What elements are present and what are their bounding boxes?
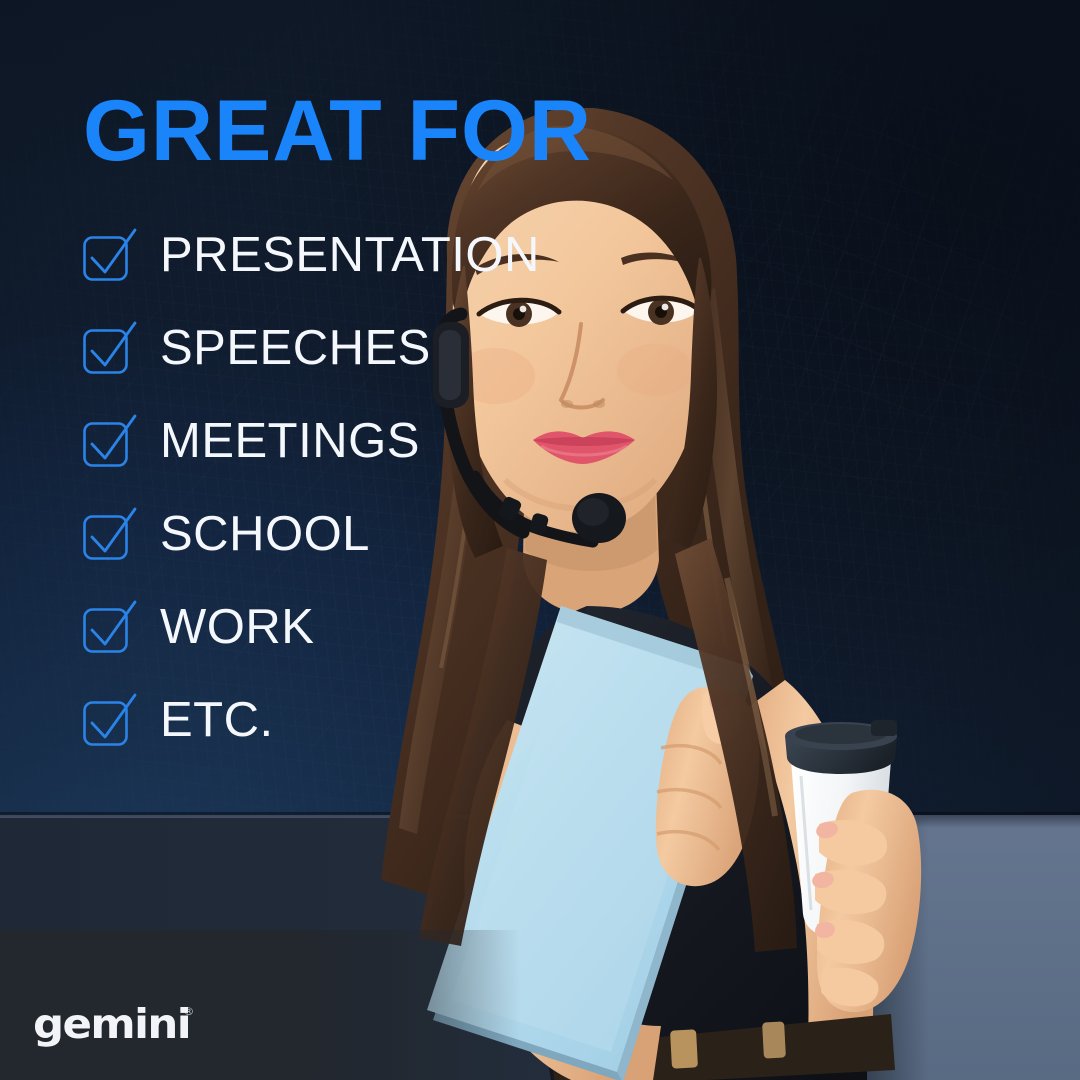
checkbox-checked-icon xyxy=(80,600,138,658)
list-item-label: ETC. xyxy=(160,695,274,745)
promotional-poster: GREAT FOR PRESENTATION SPEECHES MEETINGS xyxy=(0,0,1080,1080)
list-item: SCHOOL xyxy=(80,507,540,600)
checkbox-checked-icon xyxy=(80,321,138,379)
list-item-label: PRESENTATION xyxy=(160,230,540,280)
checkbox-checked-icon xyxy=(80,507,138,565)
list-item: WORK xyxy=(80,600,540,693)
list-item: SPEECHES xyxy=(80,321,540,414)
list-item-label: SCHOOL xyxy=(160,509,370,559)
benefits-checklist: PRESENTATION SPEECHES MEETINGS SCHOOL WO xyxy=(80,228,540,786)
list-item-label: SPEECHES xyxy=(160,323,431,373)
list-item: MEETINGS xyxy=(80,414,540,507)
list-item: ETC. xyxy=(80,693,540,786)
list-item-label: WORK xyxy=(160,602,314,652)
brand-logo-text: gemini xyxy=(33,1002,190,1046)
checkbox-checked-icon xyxy=(80,228,138,286)
page-title: GREAT FOR xyxy=(83,88,592,174)
list-item-label: MEETINGS xyxy=(160,416,420,466)
brand-logo: gemini ® xyxy=(33,1002,194,1046)
list-item: PRESENTATION xyxy=(80,228,540,321)
checkbox-checked-icon xyxy=(80,414,138,472)
checkbox-checked-icon xyxy=(80,693,138,751)
hand-holding-cup xyxy=(811,790,922,1012)
